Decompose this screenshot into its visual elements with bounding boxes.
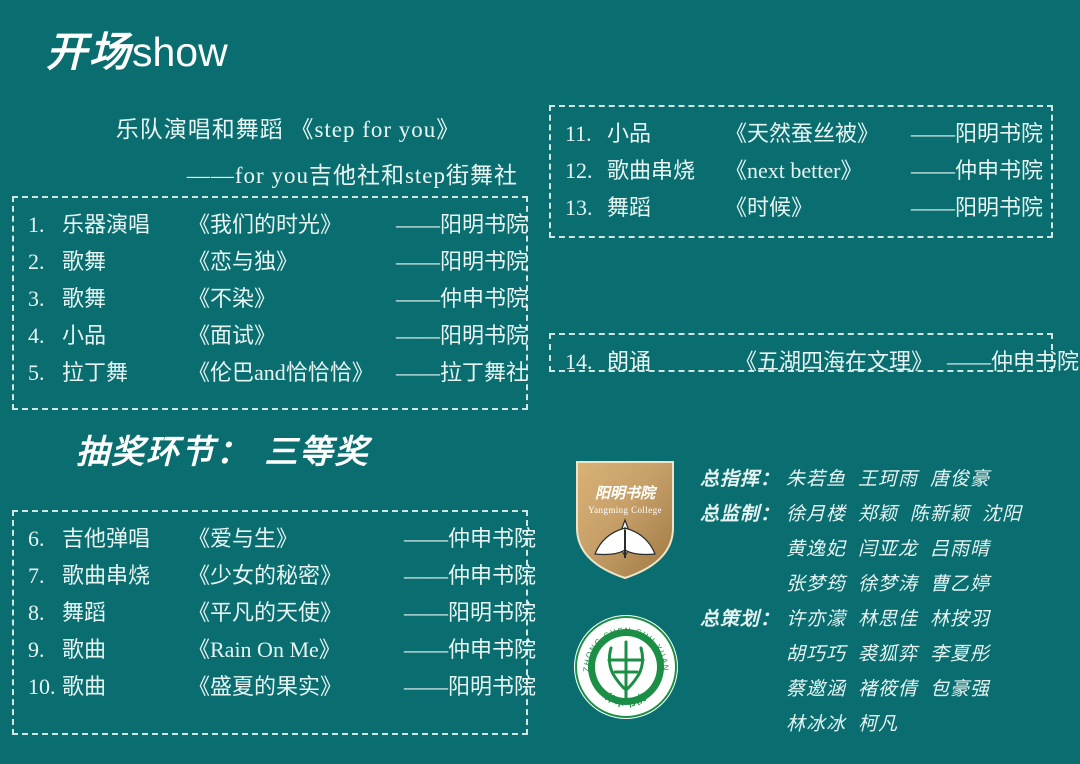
credit-person: 郑颖	[858, 503, 898, 525]
credit-role-label: 总策划：	[700, 602, 786, 637]
heading-third-prize: 抽奖环节： 三等奖	[76, 432, 370, 472]
program-type: 歌舞	[62, 243, 188, 280]
credit-names: 张梦筠徐梦涛曹乙婷	[786, 567, 1072, 602]
opening-subtitle-line1: 乐队演唱和舞蹈 《step for you》	[48, 110, 528, 144]
program-type: 朗诵	[607, 343, 735, 380]
zhongshen-college-logo: ZHONG SHEN SHU YUAN 仲申书院	[571, 612, 681, 722]
shield-name-cn: 阳明书院	[595, 484, 658, 502]
program-unit: ——仲申书院	[947, 343, 1039, 380]
yangming-college-logo: 阳明书院 Yangming College	[573, 458, 677, 580]
credit-person: 闫亚龙	[858, 538, 918, 560]
credit-row: 张梦筠徐梦涛曹乙婷	[700, 567, 1072, 602]
credit-person: 王珂雨	[858, 468, 918, 490]
credit-names: 朱若鱼王珂雨唐俊豪	[786, 462, 1072, 497]
program-row: 6.吉他弹唱《爱与生》——仲申书院	[28, 520, 514, 557]
credit-person: 沈阳	[982, 503, 1022, 525]
program-number: 3.	[28, 280, 62, 317]
opening-show-title: 开场show	[46, 28, 228, 76]
credit-person: 柯凡	[858, 713, 898, 735]
program-unit: ——仲申书院	[396, 631, 536, 668]
program-title: 《我们的时光》	[188, 206, 378, 243]
credit-names: 徐月楼郑颖陈新颖沈阳	[786, 497, 1072, 532]
credit-names: 蔡邀涵褚筱倩包豪强	[786, 672, 1072, 707]
left-column: 开场show 乐队演唱和舞蹈 《step for you》 ——for you吉…	[0, 0, 540, 764]
credit-person: 褚筱倩	[858, 678, 918, 700]
program-row: 4.小品《面试》——阳明书院	[28, 317, 514, 354]
program-row: 5.拉丁舞《伦巴and恰恰恰》——拉丁舞社	[28, 354, 514, 391]
program-unit: ——仲申书院	[396, 557, 536, 594]
program-number: 14.	[565, 343, 607, 380]
credit-person: 曹乙婷	[930, 573, 990, 595]
credit-person: 蔡邀涵	[786, 678, 846, 700]
program-row: 8.舞蹈《平凡的天使》——阳明书院	[28, 594, 514, 631]
program-list-box-third-prize: 6.吉他弹唱《爱与生》——仲申书院7.歌曲串烧《少女的秘密》——仲申书院8.舞蹈…	[12, 510, 528, 735]
program-title: 《五湖四海在文理》	[735, 343, 947, 380]
program-row: 13.舞蹈《时候》——阳明书院	[565, 189, 1039, 226]
program-type: 舞蹈	[607, 189, 725, 226]
credit-person: 林按羽	[930, 608, 990, 630]
program-type: 吉他弹唱	[62, 520, 188, 557]
program-title: 《爱与生》	[188, 520, 396, 557]
program-number: 7.	[28, 557, 62, 594]
program-title: 《天然蚕丝被》	[725, 115, 911, 152]
program-title: 《平凡的天使》	[188, 594, 396, 631]
credit-person: 张梦筠	[786, 573, 846, 595]
shield-name-en: Yangming College	[588, 505, 662, 515]
credit-person: 朱若鱼	[786, 468, 846, 490]
credit-names: 黄逸妃闫亚龙吕雨晴	[786, 532, 1072, 567]
credit-person: 黄逸妃	[786, 538, 846, 560]
credit-row: 黄逸妃闫亚龙吕雨晴	[700, 532, 1072, 567]
program-number: 10.	[28, 668, 62, 705]
program-number: 13.	[565, 189, 607, 226]
opening-title-en: show	[132, 29, 228, 75]
program-type: 小品	[607, 115, 725, 152]
credit-person: 许亦濛	[786, 608, 846, 630]
program-title: 《Rain On Me》	[188, 631, 396, 668]
program-row: 1.乐器演唱《我们的时光》——阳明书院	[28, 206, 514, 243]
credit-person: 林冰冰	[786, 713, 846, 735]
program-type: 歌舞	[62, 280, 188, 317]
program-list-box-opening: 1.乐器演唱《我们的时光》——阳明书院2.歌舞《恋与独》——阳明书院3.歌舞《不…	[12, 196, 528, 410]
program-row: 9.歌曲《Rain On Me》——仲申书院	[28, 631, 514, 668]
program-unit: ——阳明书院	[396, 668, 536, 705]
credit-names: 许亦濛林思佳林按羽	[786, 602, 1072, 637]
program-unit: ——阳明书院	[378, 317, 528, 354]
program-unit: ——阳明书院	[378, 243, 528, 280]
program-unit: ——仲申书院	[911, 152, 1041, 189]
program-type: 小品	[62, 317, 188, 354]
program-unit: ——阳明书院	[378, 206, 528, 243]
credit-names: 胡巧巧裘狐弈李夏彤	[786, 637, 1072, 672]
program-unit: ——阳明书院	[396, 594, 536, 631]
credit-person: 吕雨晴	[930, 538, 990, 560]
credit-person: 包豪强	[930, 678, 990, 700]
program-row: 7.歌曲串烧《少女的秘密》——仲申书院	[28, 557, 514, 594]
program-title: 《时候》	[725, 189, 911, 226]
program-row: 10.歌曲《盛夏的果实》——阳明书院	[28, 668, 514, 705]
program-list-box-second-prize: 11.小品《天然蚕丝被》——阳明书院12.歌曲串烧《next better》——…	[549, 105, 1053, 238]
program-type: 拉丁舞	[62, 354, 188, 391]
credit-row: 总策划：许亦濛林思佳林按羽	[700, 602, 1072, 637]
credit-row: 总监制：徐月楼郑颖陈新颖沈阳	[700, 497, 1072, 532]
credit-person: 陈新颖	[910, 503, 970, 525]
program-title: 《面试》	[188, 317, 378, 354]
program-title: 《不染》	[188, 280, 378, 317]
credit-person: 胡巧巧	[786, 643, 846, 665]
program-type: 歌曲	[62, 631, 188, 668]
program-type: 歌曲串烧	[607, 152, 725, 189]
program-row: 11.小品《天然蚕丝被》——阳明书院	[565, 115, 1039, 152]
program-title: 《盛夏的果实》	[188, 668, 396, 705]
program-type: 歌曲	[62, 668, 188, 705]
credit-role-label: 总指挥：	[700, 462, 786, 497]
credit-row: 胡巧巧裘狐弈李夏彤	[700, 637, 1072, 672]
program-type: 舞蹈	[62, 594, 188, 631]
program-title: 《恋与独》	[188, 243, 378, 280]
credit-row: 林冰冰柯凡	[700, 707, 1072, 742]
program-title: 《next better》	[725, 152, 911, 189]
program-number: 6.	[28, 520, 62, 557]
program-row: 2.歌舞《恋与独》——阳明书院	[28, 243, 514, 280]
program-row: 3.歌舞《不染》——仲申书院	[28, 280, 514, 317]
program-number: 12.	[565, 152, 607, 189]
program-number: 11.	[565, 115, 607, 152]
credit-role-label: 总监制：	[700, 497, 786, 532]
program-row: 14.朗诵《五湖四海在文理》——仲申书院	[565, 343, 1039, 380]
credit-person: 徐梦涛	[858, 573, 918, 595]
program-unit: ——阳明书院	[911, 115, 1041, 152]
program-title: 《少女的秘密》	[188, 557, 396, 594]
opening-title-cn: 开场	[46, 28, 132, 76]
program-title: 《伦巴and恰恰恰》	[188, 354, 378, 391]
program-type: 乐器演唱	[62, 206, 188, 243]
credit-person: 徐月楼	[786, 503, 846, 525]
program-number: 9.	[28, 631, 62, 668]
program-unit: ——阳明书院	[911, 189, 1041, 226]
program-row: 12.歌曲串烧《next better》——仲申书院	[565, 152, 1039, 189]
credit-person: 唐俊豪	[930, 468, 990, 490]
program-unit: ——仲申书院	[396, 520, 536, 557]
program-number: 8.	[28, 594, 62, 631]
program-number: 5.	[28, 354, 62, 391]
program-number: 1.	[28, 206, 62, 243]
credit-person: 林思佳	[858, 608, 918, 630]
program-number: 4.	[28, 317, 62, 354]
program-unit: ——拉丁舞社	[378, 354, 528, 391]
program-number: 2.	[28, 243, 62, 280]
credit-person: 李夏彤	[930, 643, 990, 665]
opening-subtitle-line2: ——for you吉他社和step街舞社	[48, 156, 518, 190]
credit-row: 蔡邀涵褚筱倩包豪强	[700, 672, 1072, 707]
credit-person: 裘狐弈	[858, 643, 918, 665]
credits-list: 总指挥：朱若鱼王珂雨唐俊豪总监制：徐月楼郑颖陈新颖沈阳黄逸妃闫亚龙吕雨晴张梦筠徐…	[700, 462, 1072, 742]
program-unit: ——仲申书院	[378, 280, 528, 317]
program-list-box-first-prize: 14.朗诵《五湖四海在文理》——仲申书院	[549, 333, 1053, 372]
program-type: 歌曲串烧	[62, 557, 188, 594]
credit-names: 林冰冰柯凡	[786, 707, 1072, 742]
credit-row: 总指挥：朱若鱼王珂雨唐俊豪	[700, 462, 1072, 497]
program-poster: 开场show 乐队演唱和舞蹈 《step for you》 ——for you吉…	[0, 0, 1080, 764]
